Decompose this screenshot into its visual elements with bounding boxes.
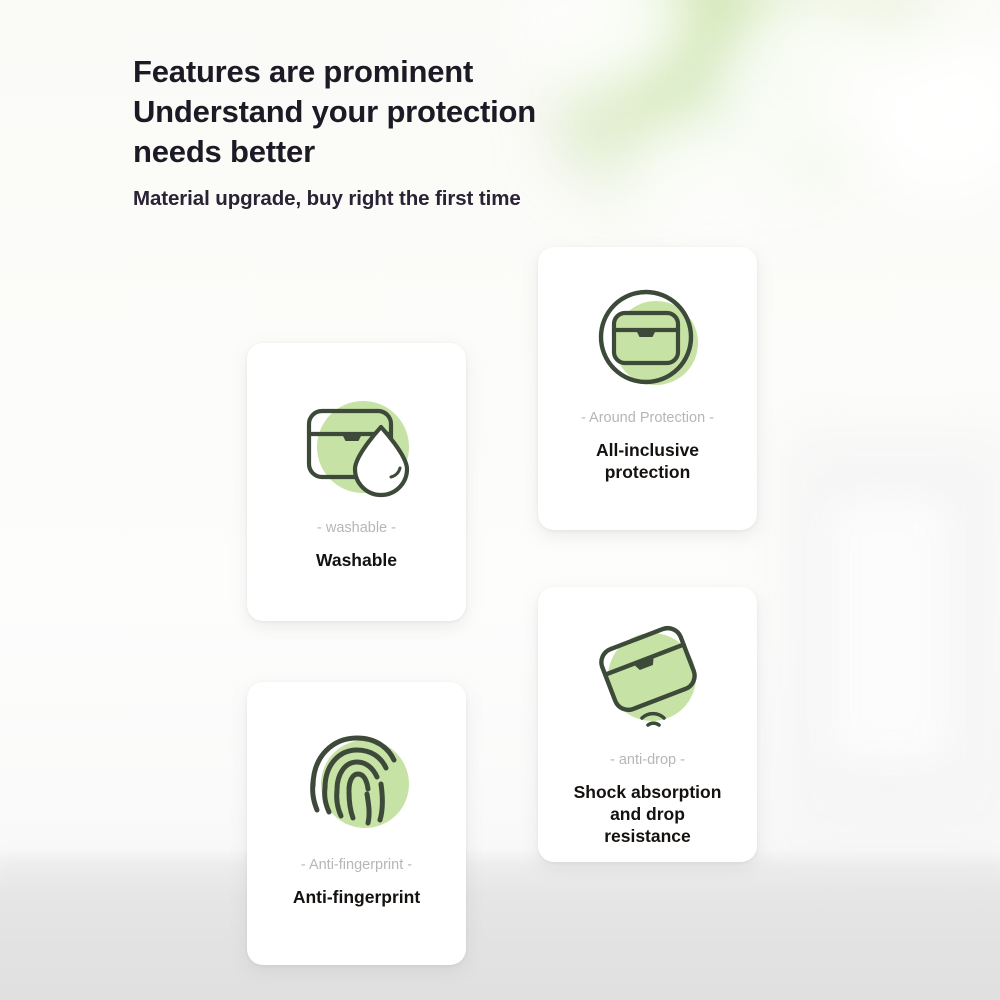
card-title-line-1: All-inclusive: [596, 440, 699, 460]
case-in-circle-icon: [586, 283, 710, 399]
card-title-line-2: protection: [605, 462, 691, 482]
feature-card-anti-fingerprint[interactable]: - Anti-fingerprint - Anti-fingerprint: [247, 682, 466, 965]
feature-card-anti-drop[interactable]: - anti-drop - Shock absorption and drop …: [538, 587, 757, 862]
headline-line-3: needs better: [133, 132, 753, 172]
page-title: Features are prominent Understand your p…: [133, 52, 753, 172]
infographic-stage: Features are prominent Understand your p…: [0, 0, 1000, 1000]
card-sub-label: - Anti-fingerprint -: [301, 856, 412, 874]
card-title: Washable: [306, 549, 407, 571]
card-title-line-2: and drop: [610, 804, 685, 824]
card-title: All-inclusive protection: [586, 439, 709, 483]
card-title-line-1: Shock absorption: [574, 782, 722, 802]
feature-card-washable[interactable]: - washable - Washable: [247, 343, 466, 621]
fingerprint-icon: [295, 724, 419, 840]
headline-line-1: Features are prominent: [133, 52, 753, 92]
card-title: Shock absorption and drop resistance: [564, 781, 732, 847]
background-object: [830, 500, 950, 760]
case-with-water-drop-icon: [295, 389, 419, 505]
page-subtitle: Material upgrade, buy right the first ti…: [133, 186, 753, 212]
heading-block: Features are prominent Understand your p…: [133, 52, 753, 212]
card-title: Anti-fingerprint: [283, 886, 430, 908]
card-sub-label: - Around Protection -: [581, 409, 714, 427]
headline-line-2: Understand your protection: [133, 92, 753, 132]
card-sub-label: - washable -: [317, 519, 396, 537]
feature-card-around-protection[interactable]: - Around Protection - All-inclusive prot…: [538, 247, 757, 530]
surface-plane: [0, 850, 1000, 1000]
card-sub-label: - anti-drop -: [610, 751, 685, 769]
tilted-case-bounce-icon: [586, 619, 710, 735]
card-title-line-3: resistance: [604, 826, 691, 846]
